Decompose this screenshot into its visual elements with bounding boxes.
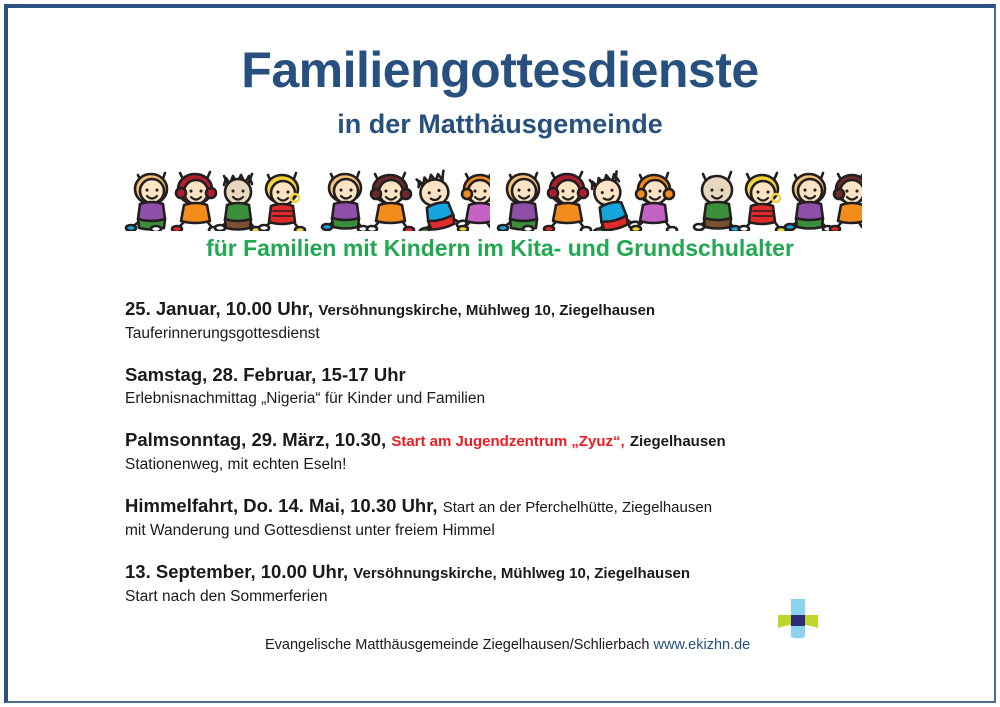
footer: Evangelische Matthäusgemeinde Ziegelhaus… [265, 637, 750, 653]
event-description: mit Wanderung und Gottesdienst unter fre… [125, 521, 915, 541]
event-date-time: Palmsonntag, 29. März, 10.30, [125, 429, 386, 450]
footer-organisation: Evangelische Matthäusgemeinde Ziegelhaus… [265, 637, 650, 653]
logo-navy-center [791, 615, 805, 626]
event-heading: Samstag, 28. Februar, 15-17 Uhr [125, 363, 915, 386]
event-description: Erlebnisnachmittag „Nigeria“ für Kinder … [125, 389, 915, 409]
event-date-time: Himmelfahrt, Do. 14. Mai, 10.30 Uhr, [125, 495, 438, 516]
footer-website-link[interactable]: www.ekizhn.de [654, 637, 751, 653]
event-description: Tauferinnerungsgottesdienst [125, 324, 915, 344]
event-item: Samstag, 28. Februar, 15-17 Uhr Erlebnis… [125, 363, 915, 409]
event-heading: 25. Januar, 10.00 Uhr, Versöhnungskirche… [125, 297, 915, 321]
event-location: Ziegelhausen [630, 433, 726, 450]
event-date-time: 13. September, 10.00 Uhr, [125, 561, 348, 582]
event-description: Stationenweg, mit echten Eseln! [125, 455, 915, 475]
event-heading: Palmsonntag, 29. März, 10.30, Start am J… [125, 428, 915, 452]
event-heading: Himmelfahrt, Do. 14. Mai, 10.30 Uhr, Sta… [125, 494, 915, 518]
event-date-time: 25. Januar, 10.00 Uhr, [125, 298, 313, 319]
event-item: Himmelfahrt, Do. 14. Mai, 10.30 Uhr, Sta… [125, 494, 915, 541]
event-list: 25. Januar, 10.00 Uhr, Versöhnungskirche… [125, 297, 915, 607]
event-date-time: Samstag, 28. Februar, 15-17 Uhr [125, 364, 406, 385]
event-item: 25. Januar, 10.00 Uhr, Versöhnungskirche… [125, 297, 915, 344]
page-subtitle: in der Matthäusgemeinde [0, 110, 1000, 140]
children-illustration [118, 163, 862, 231]
event-location: Versöhnungskirche, Mühlweg 10, Ziegelhau… [353, 565, 690, 582]
event-heading: 13. September, 10.00 Uhr, Versöhnungskir… [125, 560, 915, 584]
children-illustration-tile [118, 163, 490, 231]
event-location: Versöhnungskirche, Mühlweg 10, Ziegelhau… [318, 302, 655, 319]
page-title: Familiengottesdienste [0, 44, 1000, 97]
children-illustration-tile [490, 163, 862, 231]
event-location: Start an der Pferchelhütte, Ziegelhausen [443, 499, 712, 516]
event-location-highlight: Start am Jugendzentrum „Zyuz“, [391, 433, 624, 450]
ekhn-logo [772, 593, 824, 648]
event-item: Palmsonntag, 29. März, 10.30, Start am J… [125, 428, 915, 475]
poster-canvas: Familiengottesdienste in der Matthäusgem… [0, 0, 1000, 707]
tagline: für Familien mit Kindern im Kita- und Gr… [0, 236, 1000, 261]
